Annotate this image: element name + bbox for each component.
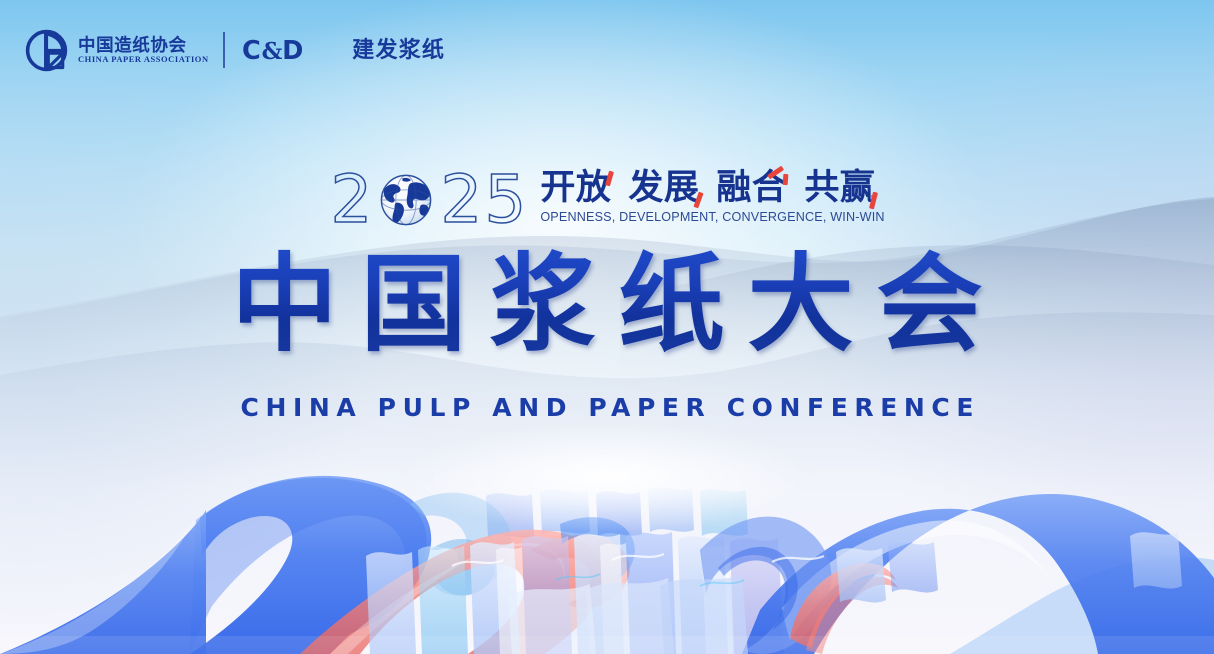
slogan-word-1-text: 开放	[540, 168, 611, 207]
slogan-word-3-text: 融合	[716, 168, 787, 207]
logo-divider-icon	[223, 32, 225, 68]
slogan-cn: 开放 发展 融合 共赢	[540, 168, 884, 208]
svg-text:C: C	[242, 36, 260, 65]
year-digit-4: 5	[483, 168, 527, 232]
logo-bar: 中国造纸协会 CHINA PAPER ASSOCIATION C & D 建发浆…	[24, 27, 445, 73]
cpa-leaf-mark-icon	[24, 28, 69, 73]
globe-icon	[376, 170, 436, 230]
slogan-word-2: 发展	[628, 168, 699, 208]
cpa-name-en: CHINA PAPER ASSOCIATION	[78, 55, 209, 65]
slogan-word-4: 共赢	[804, 168, 875, 208]
slogan-block: 开放 发展 融合 共赢 OPENNESS, DEVELOPMENT, CONV	[540, 167, 884, 224]
theme-row: 2	[0, 167, 1214, 233]
slogan-word-1: 开放	[540, 168, 611, 208]
page-title-cn: 中国浆纸大会	[0, 249, 1214, 361]
svg-text:&: &	[261, 38, 282, 65]
svg-text:D: D	[282, 36, 303, 65]
flowing-paper-ribbons-icon	[0, 400, 1214, 654]
year-digit-3: 2	[439, 168, 483, 232]
year-digit-1: 2	[329, 168, 373, 232]
china-paper-association-logo[interactable]: 中国造纸协会 CHINA PAPER ASSOCIATION	[24, 28, 206, 73]
cnd-name-cn: 建发浆纸	[352, 39, 445, 61]
slogan-word-2-text: 发展	[628, 168, 699, 207]
cnd-wordmark-icon: C & D	[242, 36, 343, 65]
slogan-en: OPENNESS, DEVELOPMENT, CONVERGENCE, WIN-…	[540, 210, 884, 224]
slogan-word-3: 融合	[716, 168, 787, 208]
cnd-paper-logo[interactable]: C & D 建发浆纸	[242, 36, 445, 65]
slogan-word-4-text: 共赢	[804, 168, 875, 207]
page-title-en: CHINA PULP AND PAPER CONFERENCE	[0, 393, 1214, 422]
cpa-name-cn: 中国造纸协会	[78, 35, 206, 55]
conference-banner: 中国造纸协会 CHINA PAPER ASSOCIATION C & D 建发浆…	[0, 0, 1214, 654]
year-2025: 2	[329, 167, 527, 233]
